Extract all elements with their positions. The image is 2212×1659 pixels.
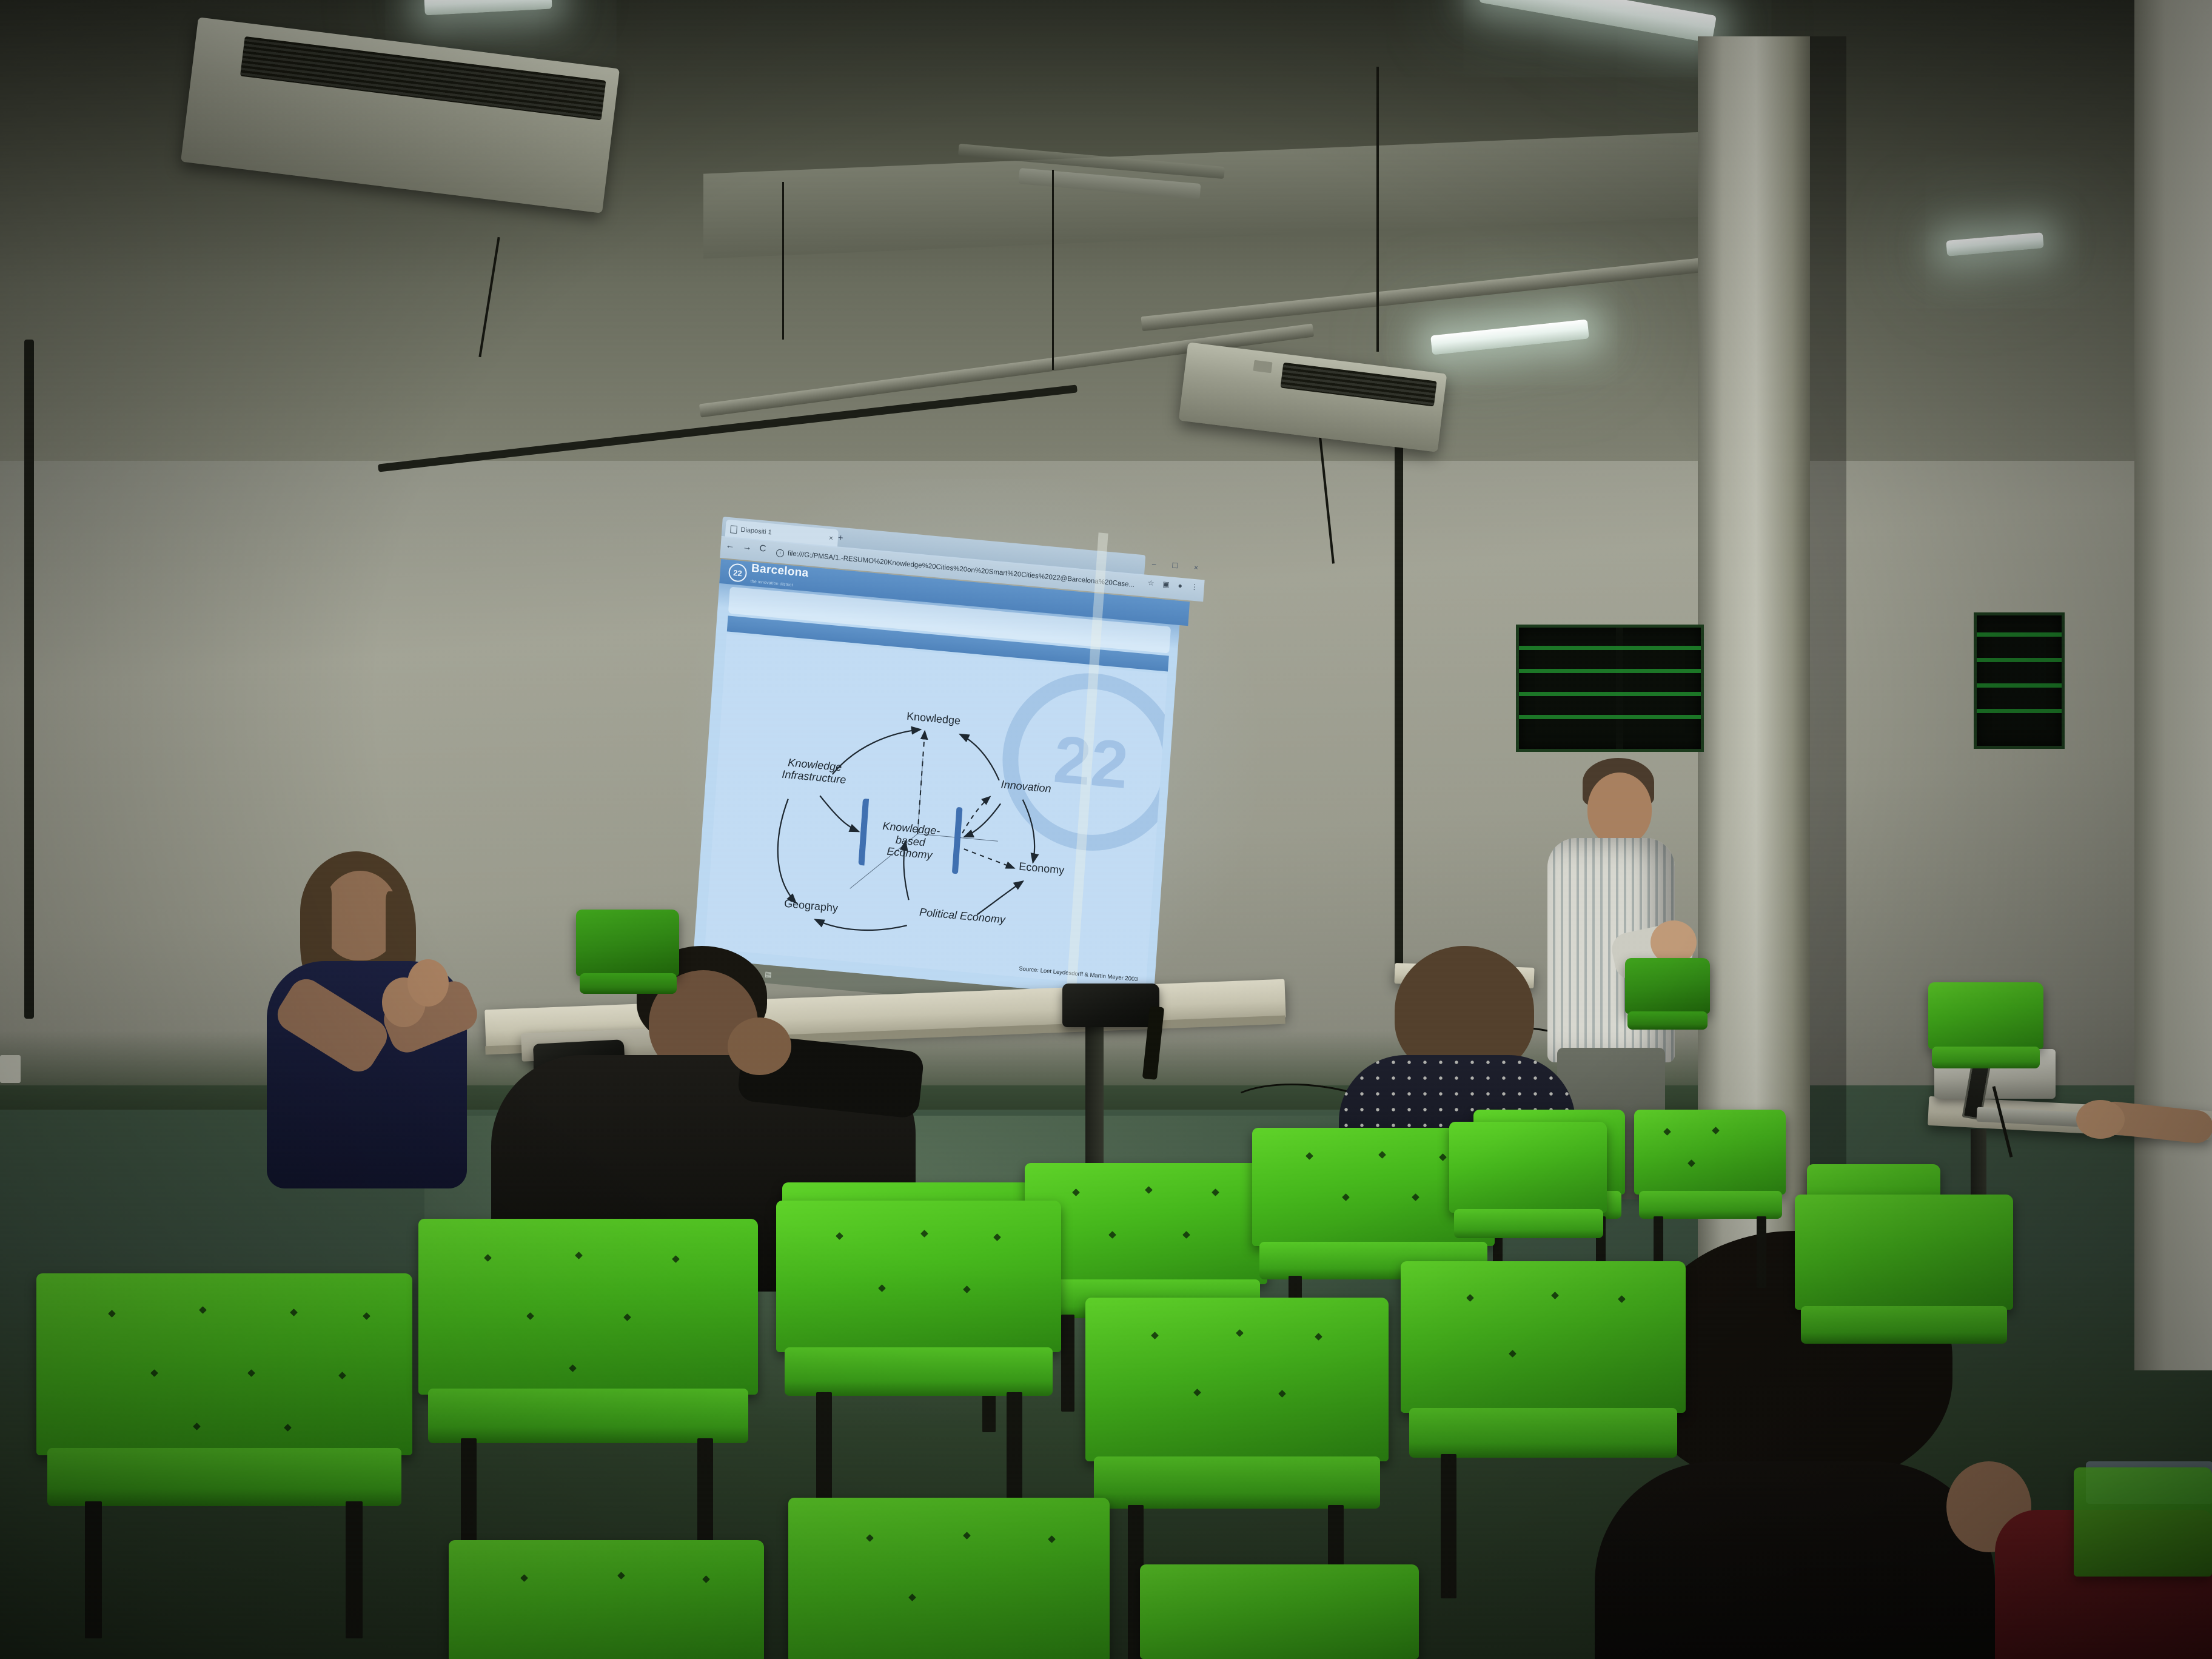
chair-row-d-1[interactable] [449, 1540, 764, 1659]
wall-conduit-vertical-right [1395, 424, 1403, 970]
hanging-wire-mid [1052, 170, 1054, 370]
chair-perforation [1663, 1128, 1671, 1136]
projected-screen: Diapositi 1 × + – ☐ × ← → C i file:///G:… [723, 517, 1208, 996]
chair-back [1634, 1110, 1786, 1195]
classroom-scene: Diapositi 1 × + – ☐ × ← → C i file:///G:… [0, 0, 2212, 1659]
chair-leg [1007, 1392, 1022, 1513]
close-icon[interactable]: × [828, 534, 833, 543]
chair-perforation [866, 1534, 874, 1542]
chair-row-c-2[interactable] [418, 1219, 758, 1570]
chair-perforation [1439, 1153, 1447, 1161]
chair-back [788, 1498, 1110, 1659]
chair-back [1140, 1564, 1419, 1659]
menu-icon[interactable]: ⋮ [1190, 582, 1198, 591]
chair-perforation [836, 1232, 843, 1240]
chair-back [1625, 958, 1710, 1014]
chair-perforation [1342, 1193, 1350, 1201]
chair-perforation [150, 1369, 158, 1377]
chair-perforation [1305, 1152, 1313, 1160]
chair-perforation [878, 1284, 886, 1292]
chair-perforation [247, 1369, 255, 1377]
wall-power-outlet [0, 1055, 21, 1083]
chair-row-d-3[interactable] [1140, 1564, 1419, 1659]
site-info-icon[interactable]: i [776, 549, 785, 557]
chair-back [1025, 1163, 1267, 1284]
chair-perforation [290, 1309, 298, 1316]
chair-perforation [1712, 1127, 1720, 1134]
forward-icon[interactable]: → [742, 541, 752, 552]
new-tab-button[interactable]: + [837, 532, 843, 543]
document-icon [730, 525, 737, 534]
window-louver [1519, 669, 1701, 673]
chair-leg [85, 1501, 102, 1638]
chair-perforation [1278, 1390, 1286, 1398]
chair-back [36, 1273, 412, 1455]
window-right [1974, 612, 2065, 749]
chair-leg [1757, 1216, 1766, 1288]
web-page-content: 22 Barcelona the innovation district 22 [693, 559, 1181, 1000]
hanging-wire-left [782, 182, 784, 340]
window-louver [1977, 709, 2062, 713]
minimize-icon[interactable]: – [1151, 559, 1156, 568]
diagram-center-label: Knowledge-basedEconomy [867, 819, 954, 864]
chair-back [1928, 982, 2043, 1049]
chair-perforation [526, 1312, 534, 1320]
chair-perforation [1108, 1231, 1116, 1239]
chair-seat [1801, 1306, 2007, 1344]
chair-far-right-edge[interactable] [1625, 958, 1710, 1067]
chair-row-c-6[interactable] [1795, 1195, 2013, 1437]
chair-perforation [1466, 1294, 1474, 1302]
window-louver [1519, 715, 1701, 719]
back-icon[interactable]: ← [725, 540, 735, 551]
chair-perforation [338, 1372, 346, 1379]
chair-perforation [702, 1575, 710, 1583]
chair-seat [580, 973, 677, 994]
chair-back [1795, 1195, 2013, 1310]
chair-row-d-2[interactable] [788, 1498, 1110, 1659]
chair-leg [346, 1501, 363, 1638]
chair-seat [47, 1448, 401, 1506]
chair-leg [1061, 1315, 1074, 1412]
chair-perforation [1145, 1186, 1153, 1194]
chair-perforation [1236, 1329, 1244, 1337]
speaker-head [1587, 773, 1652, 845]
chair-row-d-far-right[interactable] [2074, 1467, 2212, 1577]
structural-pillar-center [1698, 36, 1810, 1285]
reload-icon[interactable]: C [759, 543, 766, 554]
chair-perforation [1551, 1292, 1559, 1299]
brand-tagline: the innovation district [750, 580, 793, 588]
chair-perforation [108, 1310, 116, 1318]
chair-perforation [1412, 1193, 1419, 1201]
chair-perforation [963, 1285, 971, 1293]
chair-leg [1441, 1454, 1456, 1598]
front-table-leg-right [1085, 1025, 1104, 1176]
black-bag [1062, 984, 1159, 1027]
slide-canvas: 22 [705, 634, 1167, 988]
window-louver [1519, 646, 1701, 650]
projected-browser-window: Diapositi 1 × + – ☐ × ← → C i file:///G:… [691, 517, 1206, 1021]
chair-back [1401, 1261, 1686, 1413]
chair-row-c-3[interactable] [776, 1201, 1061, 1516]
chair-perforation [1618, 1295, 1626, 1303]
structural-pillar-right [2134, 0, 2212, 1370]
chair-perforation [993, 1233, 1001, 1241]
chair-perforation [1212, 1188, 1219, 1196]
chair-perforation [672, 1255, 680, 1263]
chair-seat [785, 1347, 1053, 1396]
chair-seat [1454, 1209, 1603, 1238]
chair-perforation [363, 1312, 370, 1320]
window-louver [1977, 683, 2062, 688]
chair-row-a-right[interactable] [1928, 982, 2043, 1122]
chair-perforation [199, 1306, 207, 1314]
attendee-front-hand [728, 1017, 791, 1075]
chair-perforation [1072, 1188, 1080, 1196]
chair-perforation [520, 1574, 528, 1582]
chair-perforation [920, 1230, 928, 1238]
chair-perforation [1182, 1231, 1190, 1239]
chair-seat [1409, 1408, 1677, 1458]
chair-perforation [963, 1532, 971, 1540]
chair-back [418, 1219, 758, 1395]
chair-seat [428, 1389, 748, 1443]
browser-tab-title: Diapositi 1 [740, 526, 772, 537]
chair-back [2074, 1467, 2212, 1577]
chair-back [776, 1201, 1061, 1352]
chair-row-c-1[interactable] [36, 1273, 412, 1637]
chair-leg [816, 1392, 832, 1513]
extension-icon[interactable]: ▣ [1162, 580, 1170, 589]
chair-seat [1627, 1011, 1708, 1030]
maximize-icon[interactable]: ☐ [1171, 561, 1179, 570]
chair-perforation [1687, 1159, 1695, 1167]
window-louver [1977, 658, 2062, 662]
chair-back [449, 1540, 764, 1659]
chair-perforation [1315, 1333, 1322, 1341]
chair-seat [1932, 1047, 2040, 1068]
chair-perforation [284, 1424, 292, 1432]
chair-seat [1094, 1456, 1380, 1509]
profile-icon[interactable]: ● [1178, 581, 1182, 591]
chair-perforation [1151, 1332, 1159, 1339]
chair-perforation [1509, 1350, 1517, 1358]
wall-conduit-vertical-left [24, 340, 34, 1019]
chair-row-c-5[interactable] [1401, 1261, 1686, 1601]
chair-perforation [569, 1364, 577, 1372]
hanging-wire-right [1376, 67, 1379, 352]
chair-back [576, 910, 679, 976]
bookmark-star-icon[interactable]: ☆ [1147, 578, 1155, 588]
chair-front-lecture[interactable] [576, 910, 679, 1031]
chair-perforation [575, 1252, 583, 1259]
chair-perforation [908, 1594, 916, 1601]
chair-perforation [1378, 1151, 1386, 1159]
chair-perforation [623, 1313, 631, 1321]
window-close-icon[interactable]: × [1194, 563, 1199, 572]
air-conditioner-right-panel [1253, 360, 1273, 374]
window-louver [1519, 692, 1701, 696]
operator-hand [2076, 1100, 2125, 1139]
chair-back [1449, 1122, 1607, 1213]
chair-perforation [193, 1423, 201, 1430]
brand-logo-icon: 22 [728, 563, 748, 583]
chair-perforation [484, 1254, 492, 1262]
chair-back [1085, 1298, 1389, 1461]
chair-perforation [1048, 1535, 1056, 1543]
diagram-arrows [705, 634, 1167, 988]
chair-perforation [617, 1572, 625, 1580]
window-left [1516, 625, 1704, 752]
window-controls: – ☐ × [1151, 559, 1198, 572]
chair-perforation [1193, 1389, 1201, 1396]
person-operator-arm [2062, 1091, 2212, 1164]
chair-seat [1639, 1191, 1782, 1219]
pillar-center-shadow [1810, 36, 1846, 1285]
window-louver [1977, 632, 2062, 637]
